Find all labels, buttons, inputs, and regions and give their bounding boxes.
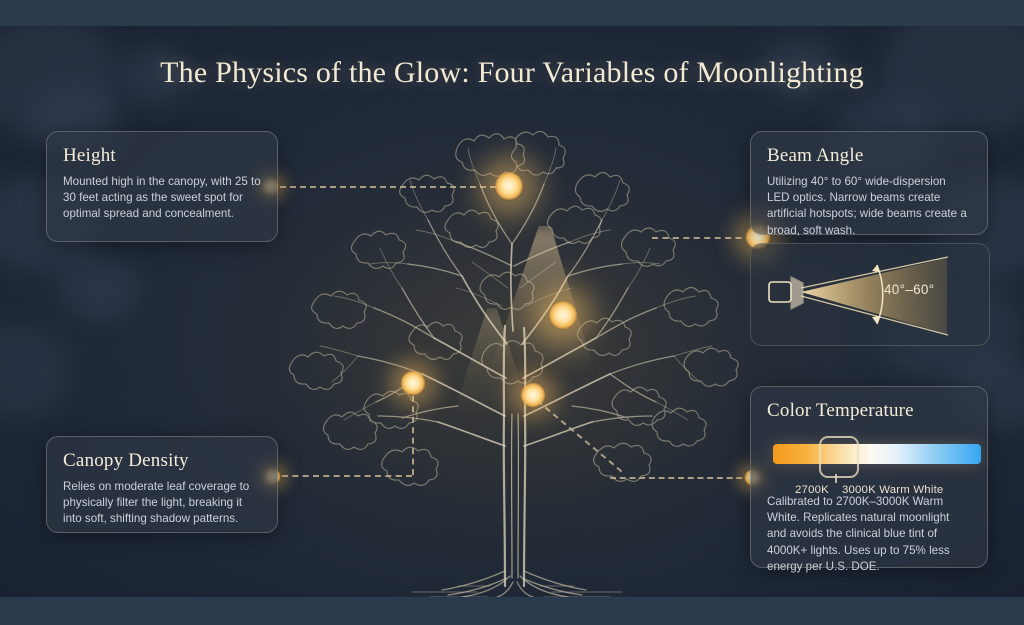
card-color-temperature-heading: Color Temperature: [767, 400, 971, 422]
connector-canopy-density: [282, 475, 412, 477]
scale-label-low: 2700K: [795, 484, 829, 496]
color-temperature-marker[interactable]: [819, 436, 859, 478]
color-temperature-marker-stem: [835, 474, 837, 483]
connector-beam-angle: [652, 237, 752, 239]
light-node-mid-branch: [520, 382, 546, 408]
card-beam-angle-body: Utilizing 40° to 60° wide-dispersion LED…: [767, 174, 971, 239]
beam-angle-label: 40°–60°: [884, 282, 934, 297]
scale-label-high: 3000K Warm White: [842, 484, 944, 496]
infographic-root: The Physics of the Glow: Four Variables …: [0, 0, 1024, 625]
card-height[interactable]: Height Mounted high in the canopy, with …: [46, 131, 278, 242]
card-color-temperature-body: Calibrated to 2700K–3000K Warm White. Re…: [767, 494, 971, 575]
bg-foliage-blob: [0, 326, 70, 416]
color-temperature-gradient-bar: [773, 444, 981, 464]
card-height-heading: Height: [63, 145, 261, 167]
card-canopy-density-body: Relies on moderate leaf coverage to phys…: [63, 479, 261, 528]
card-height-body: Mounted high in the canopy, with 25 to 3…: [63, 174, 261, 223]
connector-color-temp: [610, 477, 752, 479]
top-band: [0, 0, 1024, 26]
card-canopy-density[interactable]: Canopy Density Relies on moderate leaf c…: [46, 436, 278, 533]
beam-angle-diagram: 40°–60°: [750, 243, 990, 346]
card-color-temperature[interactable]: Color Temperature 2700K3000K Warm White …: [750, 386, 988, 568]
connector-height: [280, 186, 506, 188]
light-node-canopy-top: [494, 171, 524, 201]
light-node-main-fixture: [548, 300, 578, 330]
card-beam-angle-heading: Beam Angle: [767, 145, 971, 167]
card-beam-angle[interactable]: Beam Angle Utilizing 40° to 60° wide-dis…: [750, 131, 988, 235]
page-title: The Physics of the Glow: Four Variables …: [0, 56, 1024, 90]
bg-foliage-blob: [60, 256, 140, 321]
bottom-band: [0, 597, 1024, 625]
color-temperature-scale-labels: 2700K3000K Warm White: [795, 484, 943, 496]
card-canopy-density-heading: Canopy Density: [63, 450, 261, 472]
color-temperature-scale: 2700K3000K Warm White: [767, 434, 971, 494]
light-node-left-branch: [400, 370, 426, 396]
